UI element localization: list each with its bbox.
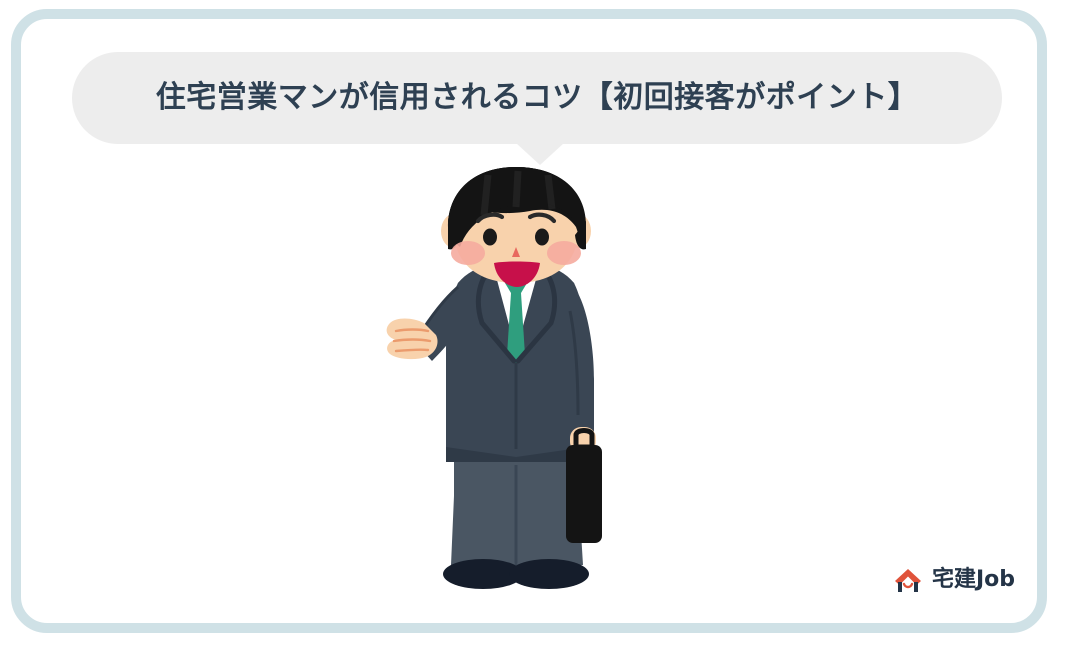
page-title: 住宅営業マンが信用されるコツ【初回接客がポイント】 [156,83,919,113]
title-speech-bubble: 住宅営業マンが信用されるコツ【初回接客がポイント】 [72,52,1002,144]
poster-canvas: 住宅営業マンが信用されるコツ【初回接客がポイント】 [0,0,1068,650]
speech-bubble-tail [516,143,564,165]
brand-logo-text: 宅建Job [932,569,1015,591]
businessman-illustration [380,165,660,600]
house-smile-icon [893,566,923,594]
brand-logo[interactable]: 宅建Job [893,566,1015,594]
